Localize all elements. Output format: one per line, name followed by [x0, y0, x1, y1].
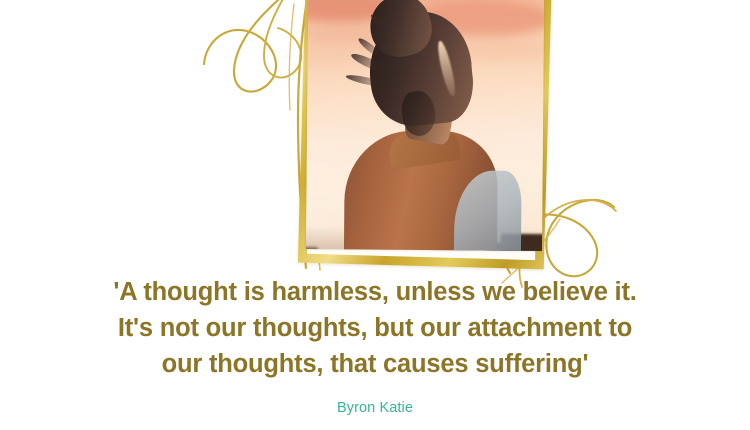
quote-line-3: our thoughts, that causes suffering': [0, 346, 750, 382]
quote-text: 'A thought is harmless, unless we believ…: [0, 274, 750, 382]
photo-image: [306, 0, 544, 251]
quote-author: Byron Katie: [0, 400, 750, 416]
framed-photo: [298, 0, 552, 269]
quote-line-1: 'A thought is harmless, unless we believ…: [0, 274, 750, 310]
quote-author-tail: .: [0, 421, 750, 430]
quote-line-2: It's not our thoughts, but our attachmen…: [0, 310, 750, 346]
woman-silhouette: [329, 0, 527, 251]
sunset-scene: [306, 0, 544, 251]
quote-card: 'A thought is harmless, unless we believ…: [0, 0, 750, 430]
